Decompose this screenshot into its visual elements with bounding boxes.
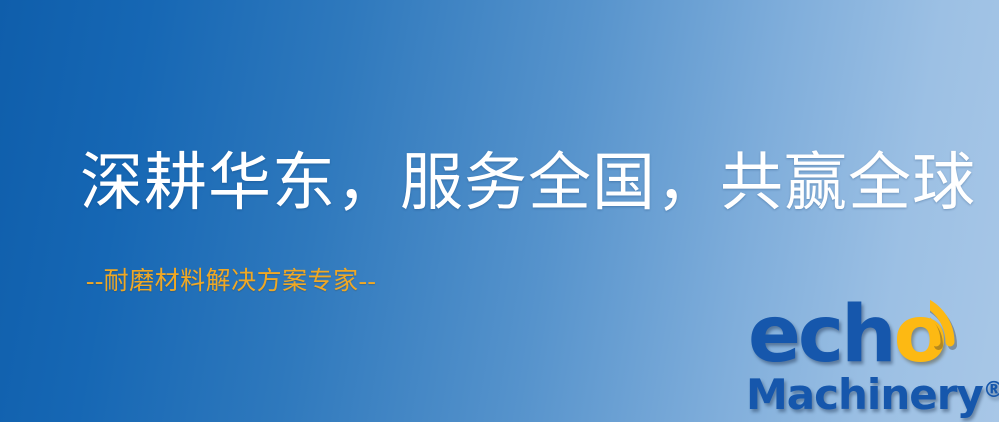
page-subtitle: --耐磨材料解决方案专家-- xyxy=(86,268,376,296)
logo-tagline-text: Machinery xyxy=(746,370,983,419)
logo-wordmark: echo xyxy=(748,296,944,374)
hero-banner: 深耕华东，服务全国，共赢全球 --耐磨材料解决方案专家-- echo Machi… xyxy=(0,0,999,422)
logo-tagline: Machinery® xyxy=(746,368,999,418)
registered-trademark-icon: ® xyxy=(983,378,999,403)
page-title: 深耕华东，服务全国，共赢全球 xyxy=(80,150,976,216)
logo-wordmark-ech: ech xyxy=(748,290,894,380)
signal-waves-icon xyxy=(930,292,996,354)
company-logo[interactable]: echo Machinery® xyxy=(744,296,999,422)
